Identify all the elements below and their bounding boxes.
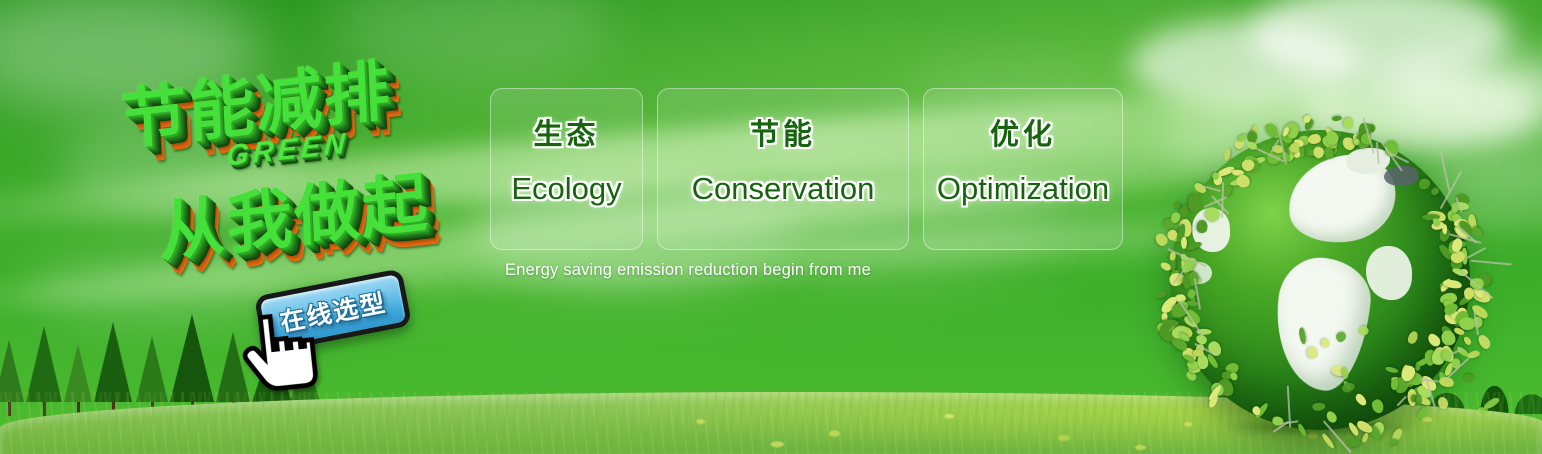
- logo-bottom-line: 从我做起: [157, 149, 431, 276]
- banner-subtitle: Energy saving emission reduction begin f…: [505, 261, 871, 280]
- feature-card-optimization-zh: 优化: [990, 111, 1056, 153]
- campaign-logo: 节能减排 GREEN 从我做起: [96, 38, 486, 268]
- globe-sphere: [1170, 130, 1470, 430]
- earth-globe: [1170, 130, 1470, 430]
- feature-card-conservation-zh: 节能: [750, 111, 816, 153]
- globe-continents: [1170, 130, 1470, 430]
- feature-card-conservation[interactable]: 节能 Conservation: [657, 88, 909, 250]
- feature-card-optimization[interactable]: 优化 Optimization: [923, 88, 1123, 250]
- feature-cards: 生态 Ecology 节能 Conservation 优化 Optimizati…: [490, 88, 1123, 250]
- feature-card-optimization-en: Optimization: [937, 171, 1109, 207]
- eco-hero-banner: 节能减排 GREEN 从我做起 在线选型 生态 Ecology 节能 Conse…: [0, 0, 1542, 454]
- feature-card-ecology-zh: 生态: [533, 111, 599, 153]
- feature-card-ecology[interactable]: 生态 Ecology: [490, 88, 643, 250]
- pointing-hand-cursor-icon: [236, 308, 321, 401]
- feature-card-ecology-en: Ecology: [511, 171, 621, 207]
- feature-card-conservation-en: Conservation: [692, 171, 875, 207]
